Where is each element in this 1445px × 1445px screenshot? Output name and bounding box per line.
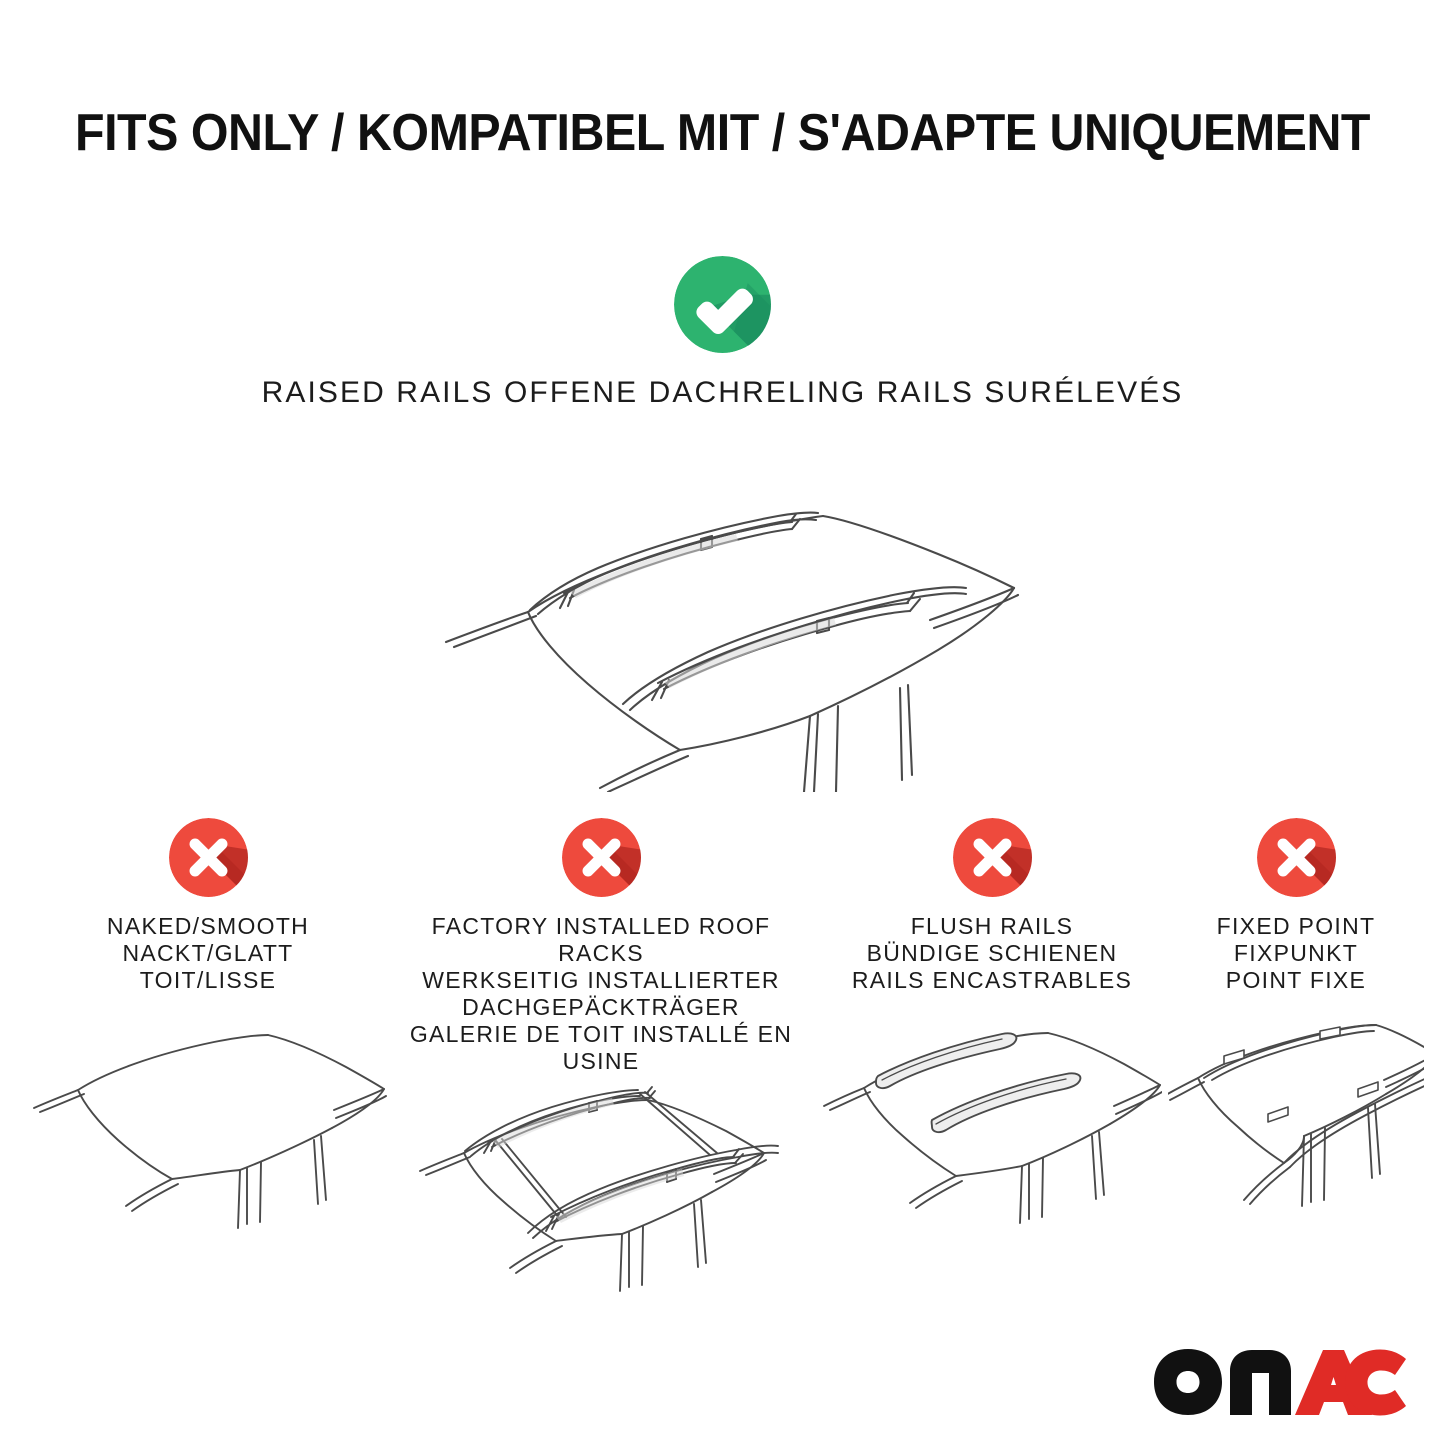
compatible-label-line: RAILS SURÉLEVÉS <box>877 376 1184 409</box>
compatible-label: RAISED RAILS OFFENE DACHRELING RAILS SUR… <box>0 376 1445 409</box>
incompatible-label-line: NACKT/GLATT <box>28 940 388 967</box>
page-title: FITS ONLY / KOMPATIBEL MIT / S'ADAPTE UN… <box>51 103 1395 163</box>
incompatible-label-line: GALERIE DE TOIT INSTALLÉ EN USINE <box>392 1021 810 1075</box>
incompatible-label-line: RAILS ENCASTRABLES <box>822 967 1162 994</box>
incompatible-label-line: FIXED POINT <box>1168 913 1424 940</box>
incompatible-label-line: FACTORY INSTALLED ROOF RACKS <box>392 913 810 967</box>
incompatible-label-line: POINT FIXE <box>1168 967 1424 994</box>
incompatible-column-factory-roof-racks: FACTORY INSTALLED ROOF RACKS WERKSEITIG … <box>392 818 810 1321</box>
incompatible-column-flush-rails: FLUSH RAILS BÜNDIGE SCHIENEN RAILS ENCAS… <box>822 818 1162 1246</box>
compatible-block: RAISED RAILS OFFENE DACHRELING RAILS SUR… <box>0 256 1445 409</box>
car-roof-flush-rails-illustration <box>822 1016 1162 1246</box>
omac-logo: OMAC <box>1151 1345 1409 1427</box>
incompatible-label: FLUSH RAILS BÜNDIGE SCHIENEN RAILS ENCAS… <box>822 913 1162 994</box>
incompatible-column-fixed-point: FIXED POINT FIXPUNKT POINT FIXE <box>1168 818 1424 1246</box>
incompatible-label-line: FIXPUNKT <box>1168 940 1424 967</box>
red-cross-icon <box>953 818 1032 897</box>
incompatible-label-line: FLUSH RAILS <box>822 913 1162 940</box>
incompatible-label-line: WERKSEITIG INSTALLIERTER <box>392 967 810 994</box>
infographic-page: FITS ONLY / KOMPATIBEL MIT / S'ADAPTE UN… <box>0 0 1445 1445</box>
incompatible-label-line: BÜNDIGE SCHIENEN <box>822 940 1162 967</box>
compatible-label-line: OFFENE DACHRELING <box>504 376 866 409</box>
red-cross-icon <box>169 818 248 897</box>
incompatible-label: FIXED POINT FIXPUNKT POINT FIXE <box>1168 913 1424 994</box>
car-roof-naked-smooth-illustration <box>28 1010 388 1240</box>
red-cross-icon <box>1257 818 1336 897</box>
car-roof-factory-roof-racks-illustration <box>392 1081 810 1321</box>
incompatible-label-line: TOIT/LISSE <box>28 967 388 994</box>
car-roof-raised-rails-illustration <box>418 492 1028 787</box>
incompatible-label-line: DACHGEPÄCKTRÄGER <box>392 994 810 1021</box>
incompatible-label: FACTORY INSTALLED ROOF RACKS WERKSEITIG … <box>392 913 810 1075</box>
car-roof-fixed-point-illustration <box>1168 1016 1424 1246</box>
incompatible-label: NAKED/SMOOTH NACKT/GLATT TOIT/LISSE <box>28 913 388 994</box>
incompatible-columns: NAKED/SMOOTH NACKT/GLATT TOIT/LISSE <box>0 818 1445 1298</box>
compatible-label-line: RAISED RAILS <box>262 376 494 409</box>
incompatible-label-line: NAKED/SMOOTH <box>28 913 388 940</box>
green-check-icon <box>674 256 771 353</box>
incompatible-column-naked-smooth: NAKED/SMOOTH NACKT/GLATT TOIT/LISSE <box>28 818 388 1240</box>
red-cross-icon <box>562 818 641 897</box>
